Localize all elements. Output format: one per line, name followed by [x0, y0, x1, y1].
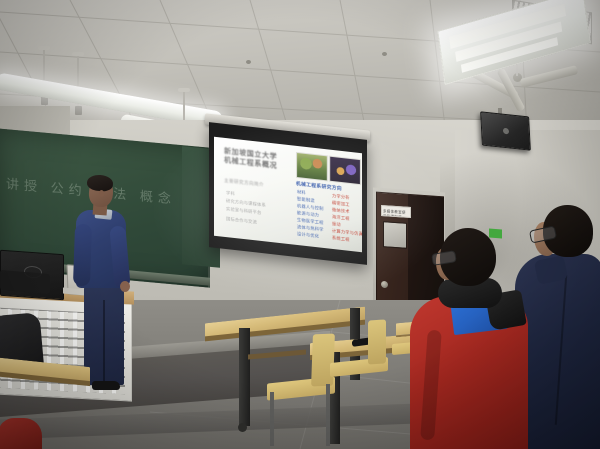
ceiling-sensor: [382, 52, 387, 56]
ceiling-sensor: [246, 60, 251, 64]
presenter-ear: [99, 190, 104, 197]
wall-speaker: [480, 111, 531, 150]
door-sign-text: 多媒体教室使用管理制度: [382, 206, 410, 218]
presenter-leg-seam: [103, 300, 105, 384]
projection-screen-frame: 新加坡国立大学 机械工程系概况 主要研究方向简介 机械工程系研究方向 学科 研究…: [209, 122, 367, 265]
student-chair-back: [368, 319, 386, 364]
chair-frame: [270, 392, 274, 446]
chair-frame: [326, 384, 330, 446]
student-chair-back: [311, 334, 335, 387]
presenter-hand: [120, 281, 130, 292]
door-window: [383, 221, 407, 249]
door-handle[interactable]: [381, 281, 388, 288]
podium-control-panel[interactable]: [0, 270, 50, 294]
desk-caster: [238, 423, 247, 432]
door-sign: 多媒体教室使用管理制度: [381, 205, 411, 218]
screen-glare: [214, 137, 362, 253]
classroom-photo: 讲授 公约 方法 概念 新加坡国立大学 机械工程系概况 主要研究方向简介 机械工…: [0, 0, 600, 449]
projection-screen: 新加坡国立大学 机械工程系概况 主要研究方向简介 机械工程系研究方向 学科 研究…: [214, 137, 362, 253]
presenter-arm-left: [73, 224, 92, 287]
desk-leg: [239, 328, 250, 426]
presenter-shoe: [92, 381, 120, 390]
light-clamp: [75, 106, 82, 115]
exit-sticker: [489, 229, 502, 239]
student-partial-shoulder: [0, 418, 42, 449]
